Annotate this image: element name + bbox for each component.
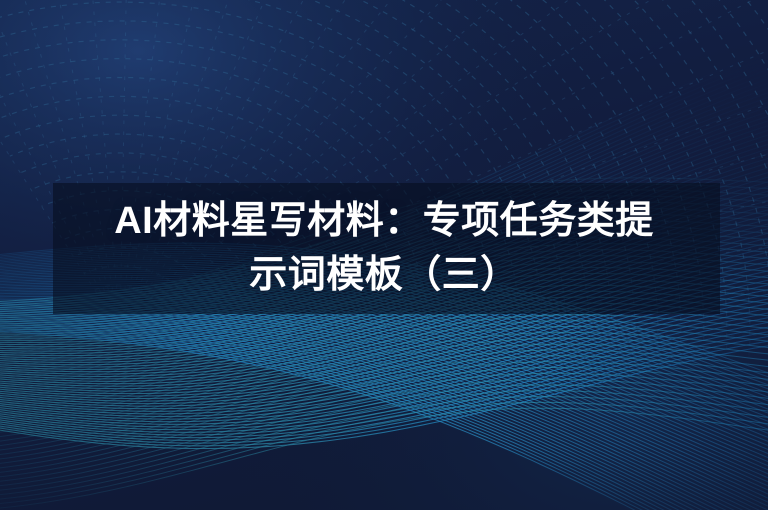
title-line-1: AI材料星写材料：专项任务类提 — [114, 195, 654, 249]
title-line-2: 示词模板（三） — [249, 249, 519, 303]
poster-canvas: AI材料星写材料：专项任务类提 示词模板（三） — [0, 0, 768, 510]
poster-title: AI材料星写材料：专项任务类提 示词模板（三） — [0, 183, 768, 314]
